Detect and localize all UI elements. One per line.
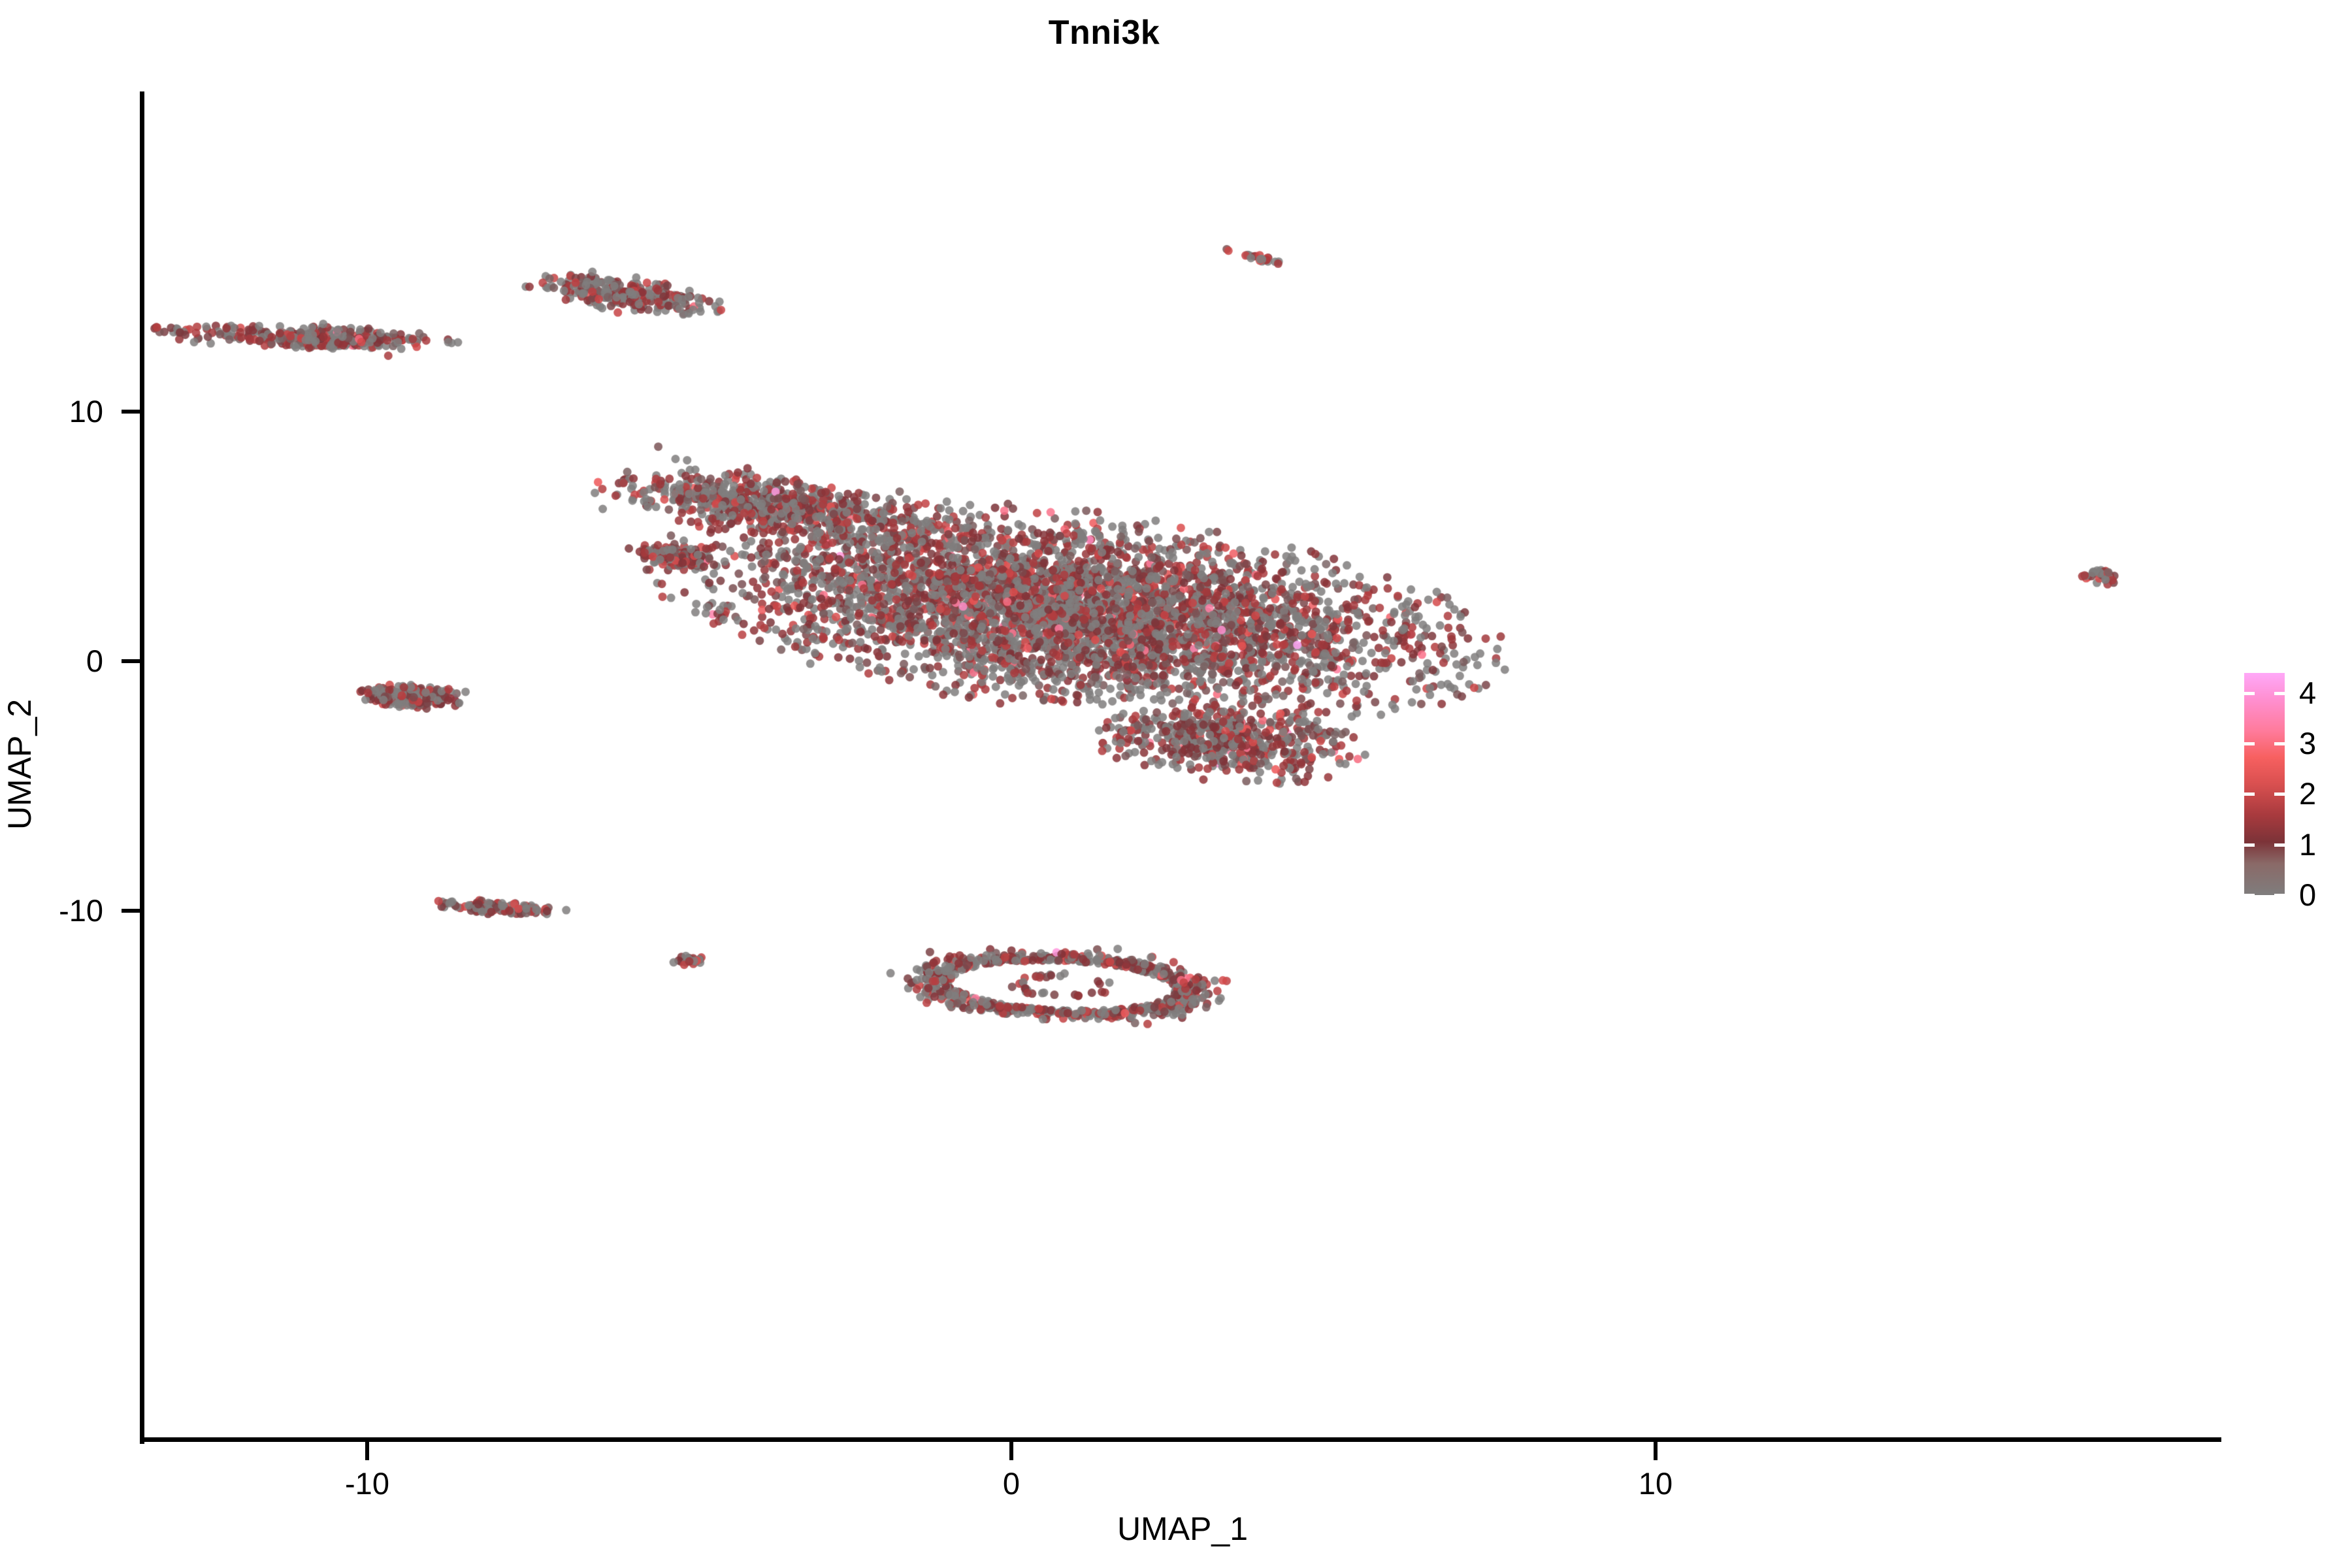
scatter-plot-canvas — [144, 91, 2221, 1439]
legend-tick-mark — [2244, 742, 2255, 745]
color-legend: 43210 — [2244, 673, 2342, 895]
x-tick-mark — [365, 1442, 369, 1460]
x-tick-mark — [1009, 1442, 1013, 1460]
legend-tick-mark — [2274, 843, 2285, 847]
page-title: Tnni3k — [0, 13, 2208, 52]
legend-tick-mark — [2244, 792, 2255, 796]
legend-tick-label: 0 — [2299, 877, 2316, 913]
legend-tick-mark — [2244, 692, 2255, 695]
legend-tick-label: 1 — [2299, 826, 2316, 863]
legend-tick-label: 2 — [2299, 776, 2316, 812]
legend-tick-mark — [2244, 894, 2255, 897]
legend-tick-label: 3 — [2299, 725, 2316, 762]
legend-tick-mark — [2274, 792, 2285, 796]
x-tick-label: 10 — [1584, 1465, 1727, 1502]
legend-tick-mark — [2274, 692, 2285, 695]
legend-tick-label: 4 — [2299, 675, 2316, 711]
y-axis-line — [140, 91, 144, 1444]
y-axis-title: UMAP_2 — [0, 438, 39, 1091]
x-axis-line — [140, 1437, 2221, 1442]
umap-feature-plot: Tnni3k -10010 100-10 UMAP_1 UMAP_2 43210 — [0, 0, 2352, 1568]
legend-tick-mark — [2244, 843, 2255, 847]
x-axis-title: UMAP_1 — [144, 1509, 2221, 1548]
legend-tick-mark — [2274, 894, 2285, 897]
y-tick-mark — [122, 659, 140, 663]
x-tick-mark — [1654, 1442, 1658, 1460]
y-tick-mark — [122, 909, 140, 913]
legend-colorbar — [2244, 673, 2285, 895]
x-tick-label: -10 — [295, 1465, 439, 1502]
x-tick-label: 0 — [939, 1465, 1083, 1502]
legend-tick-mark — [2274, 742, 2285, 745]
y-tick-label: 10 — [0, 393, 112, 430]
plot-panel — [144, 91, 2221, 1439]
y-tick-mark — [122, 410, 140, 414]
